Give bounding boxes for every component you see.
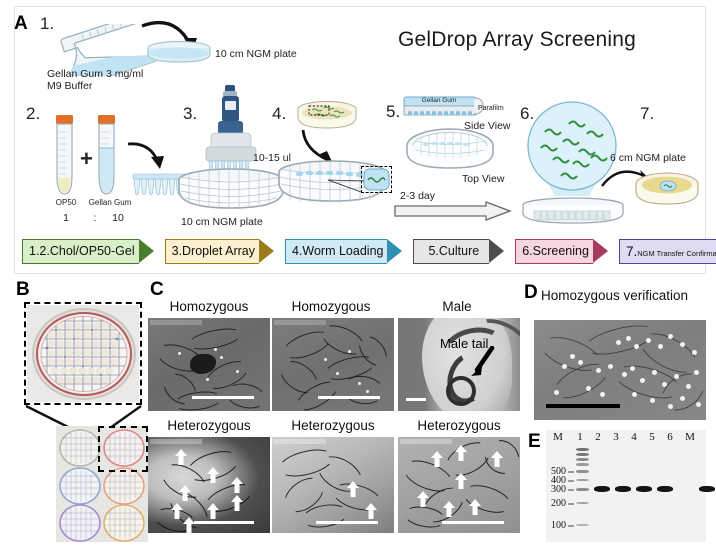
gel-lane-label-6: 6 [662,431,678,443]
ratio-value-op50: 1 [45,212,87,224]
gel-band-lane-6 [699,486,715,492]
micrograph-timestamp-overlay-6 [400,439,452,444]
workflow-step-2-label: 3.Droplet Array [172,244,255,258]
gel-ladder-label-200: 200 [544,498,566,509]
micrograph-timestamp-overlay-5 [274,439,326,444]
micrograph-timestamp-overlay-2 [274,320,326,325]
single-droplet-with-worm-icon [363,168,390,191]
tube-label-gellan-gum: Gellan Gum [84,199,136,207]
workflow-step-5-label: 6.Screening [522,244,589,258]
gel-lane-label-5: 5 [644,431,660,443]
gel-band-lane-3 [636,486,652,492]
panel-c-scalebar-2 [318,396,380,399]
geldrop-array-plate-side-icon [520,196,626,226]
gel-ladder-label-300: 300 [544,484,566,495]
workflow-step-1-label: 1.2.Chol/OP50-Gel [29,244,135,258]
gel-lane-label-1: 1 [572,431,588,443]
ngm-plate-label-step1: 10 cm NGM plate [215,48,297,60]
workflow-step-4[interactable]: 5.Culture [413,239,504,264]
male-tail-annotation-label: Male tail [440,336,488,351]
step-3-number: 3. [183,104,197,124]
workflow-step-6-number: 7. [626,244,637,259]
panel-c-micrograph-male [398,318,520,411]
step-7-number: 7. [640,104,654,124]
petri-dish-icon-step1 [146,40,212,66]
panel-d-scalebar [546,404,620,408]
workflow-step-1[interactable]: 1.2.Chol/OP50-Gel [22,239,154,264]
ngm-plate-label-step3: 10 cm NGM plate [181,216,263,228]
falcon-tube-gellan-gum-icon [90,114,122,200]
panel-d-title: Homozygous verification [541,288,688,303]
gel-band-lane-1 [594,486,610,492]
top-view-label: Top View [462,173,504,185]
incubation-arrow-icon [394,201,512,221]
gel-lane-label-2: 2 [590,431,606,443]
gellan-gum-layer-label: Gellan Gum [408,97,470,104]
workflow-arrow-bar: 1.2.Chol/OP50-Gel 3.Droplet Array 4.Worm… [22,236,716,266]
falcon-tube-op50-icon [48,114,80,200]
panel-a-title: GelDrop Array Screening [372,28,662,52]
panel-e-gel-image: M 1 2 3 4 5 6 M 500 400 300 200 100 [546,430,706,542]
gel-lane-label-M-left: M [550,431,566,443]
workflow-step-6-sublabel: NGM Transfer Confirmation [637,249,716,258]
parafilm-label: Parafilm [478,105,504,113]
gel-band-lane-4 [657,486,673,492]
step-4-number: 4. [272,104,286,124]
panel-c-tile-label-4: Heterozygous [148,418,270,433]
ngm-plate-label-step7: 6 cm NGM plate [610,152,686,164]
gel-lane-label-4: 4 [626,431,642,443]
gel-ladder-label-100: 100 [544,520,566,531]
panel-c-tile-label-5: Heterozygous [272,418,394,433]
petri-dish-grid-icon-step3 [176,168,286,214]
panel-c-tile-label-6: Heterozygous [398,418,520,433]
panel-c-scalebar-5 [316,521,378,524]
panel-b-letter: B [16,280,30,299]
panel-c-tile-label-2: Homozygous [272,299,390,314]
panel-c-tile-label-3: Male [398,299,516,314]
tube-label-op50: OP50 [45,199,87,207]
step-2-number: 2. [26,104,40,124]
grid-plate-photo-zoomed [27,305,139,402]
panel-a-letter: A [14,14,28,33]
zoom-leader-lines [326,178,366,196]
panel-b-selected-plate-dashbox [98,426,148,472]
figure-geldrop-array-screening: A GelDrop Array Screening 1. Gellan Gum … [0,0,716,547]
step-1-caption-line2: M9 Buffer [47,80,92,92]
workflow-step-2[interactable]: 3.Droplet Array [165,239,274,264]
gel-lane-label-M-right: M [682,431,698,443]
panel-d-letter: D [524,283,538,302]
gel-lane-label-3: 3 [608,431,624,443]
gel-band-lane-2 [615,486,631,492]
step-5-number: 5. [386,102,400,122]
micrograph-timestamp-overlay-1 [150,320,202,325]
workflow-step-5[interactable]: 6.Screening [515,239,608,264]
panel-d-micrograph [534,320,706,420]
panel-e-letter: E [528,432,541,451]
petri-dish-top-view-icon [405,126,495,170]
panel-c-scalebar-4 [194,521,254,524]
workflow-step-3[interactable]: 4.Worm Loading [285,239,403,264]
panel-c-scalebar-6 [442,521,504,524]
panel-c-tile-label-1: Homozygous [150,299,268,314]
workflow-step-6[interactable]: 7.NGM Transfer Confirmation [619,239,716,264]
panel-c-micrograph-6 [398,437,520,533]
workflow-step-3-label: 4.Worm Loading [292,244,384,258]
panel-c-micrograph-2 [272,318,394,411]
panel-c-scalebar-1 [192,396,254,399]
workflow-step-4-label: 5.Culture [428,244,479,258]
panel-c-scalebar-male [406,398,426,401]
micrograph-timestamp-overlay-4 [150,439,202,444]
panel-c-micrograph-5 [272,437,394,533]
step-1-caption-line1: Gellan Gum 3 mg/ml [47,68,143,80]
panel-c-micrograph-1 [148,318,270,411]
ratio-value-gellan-gum: 10 [103,212,133,224]
panel-c-micrograph-4 [148,437,270,533]
petri-dish-icon-step7 [634,170,700,210]
panel-c-letter: C [150,280,164,299]
mix-arrow-icon [126,140,168,174]
